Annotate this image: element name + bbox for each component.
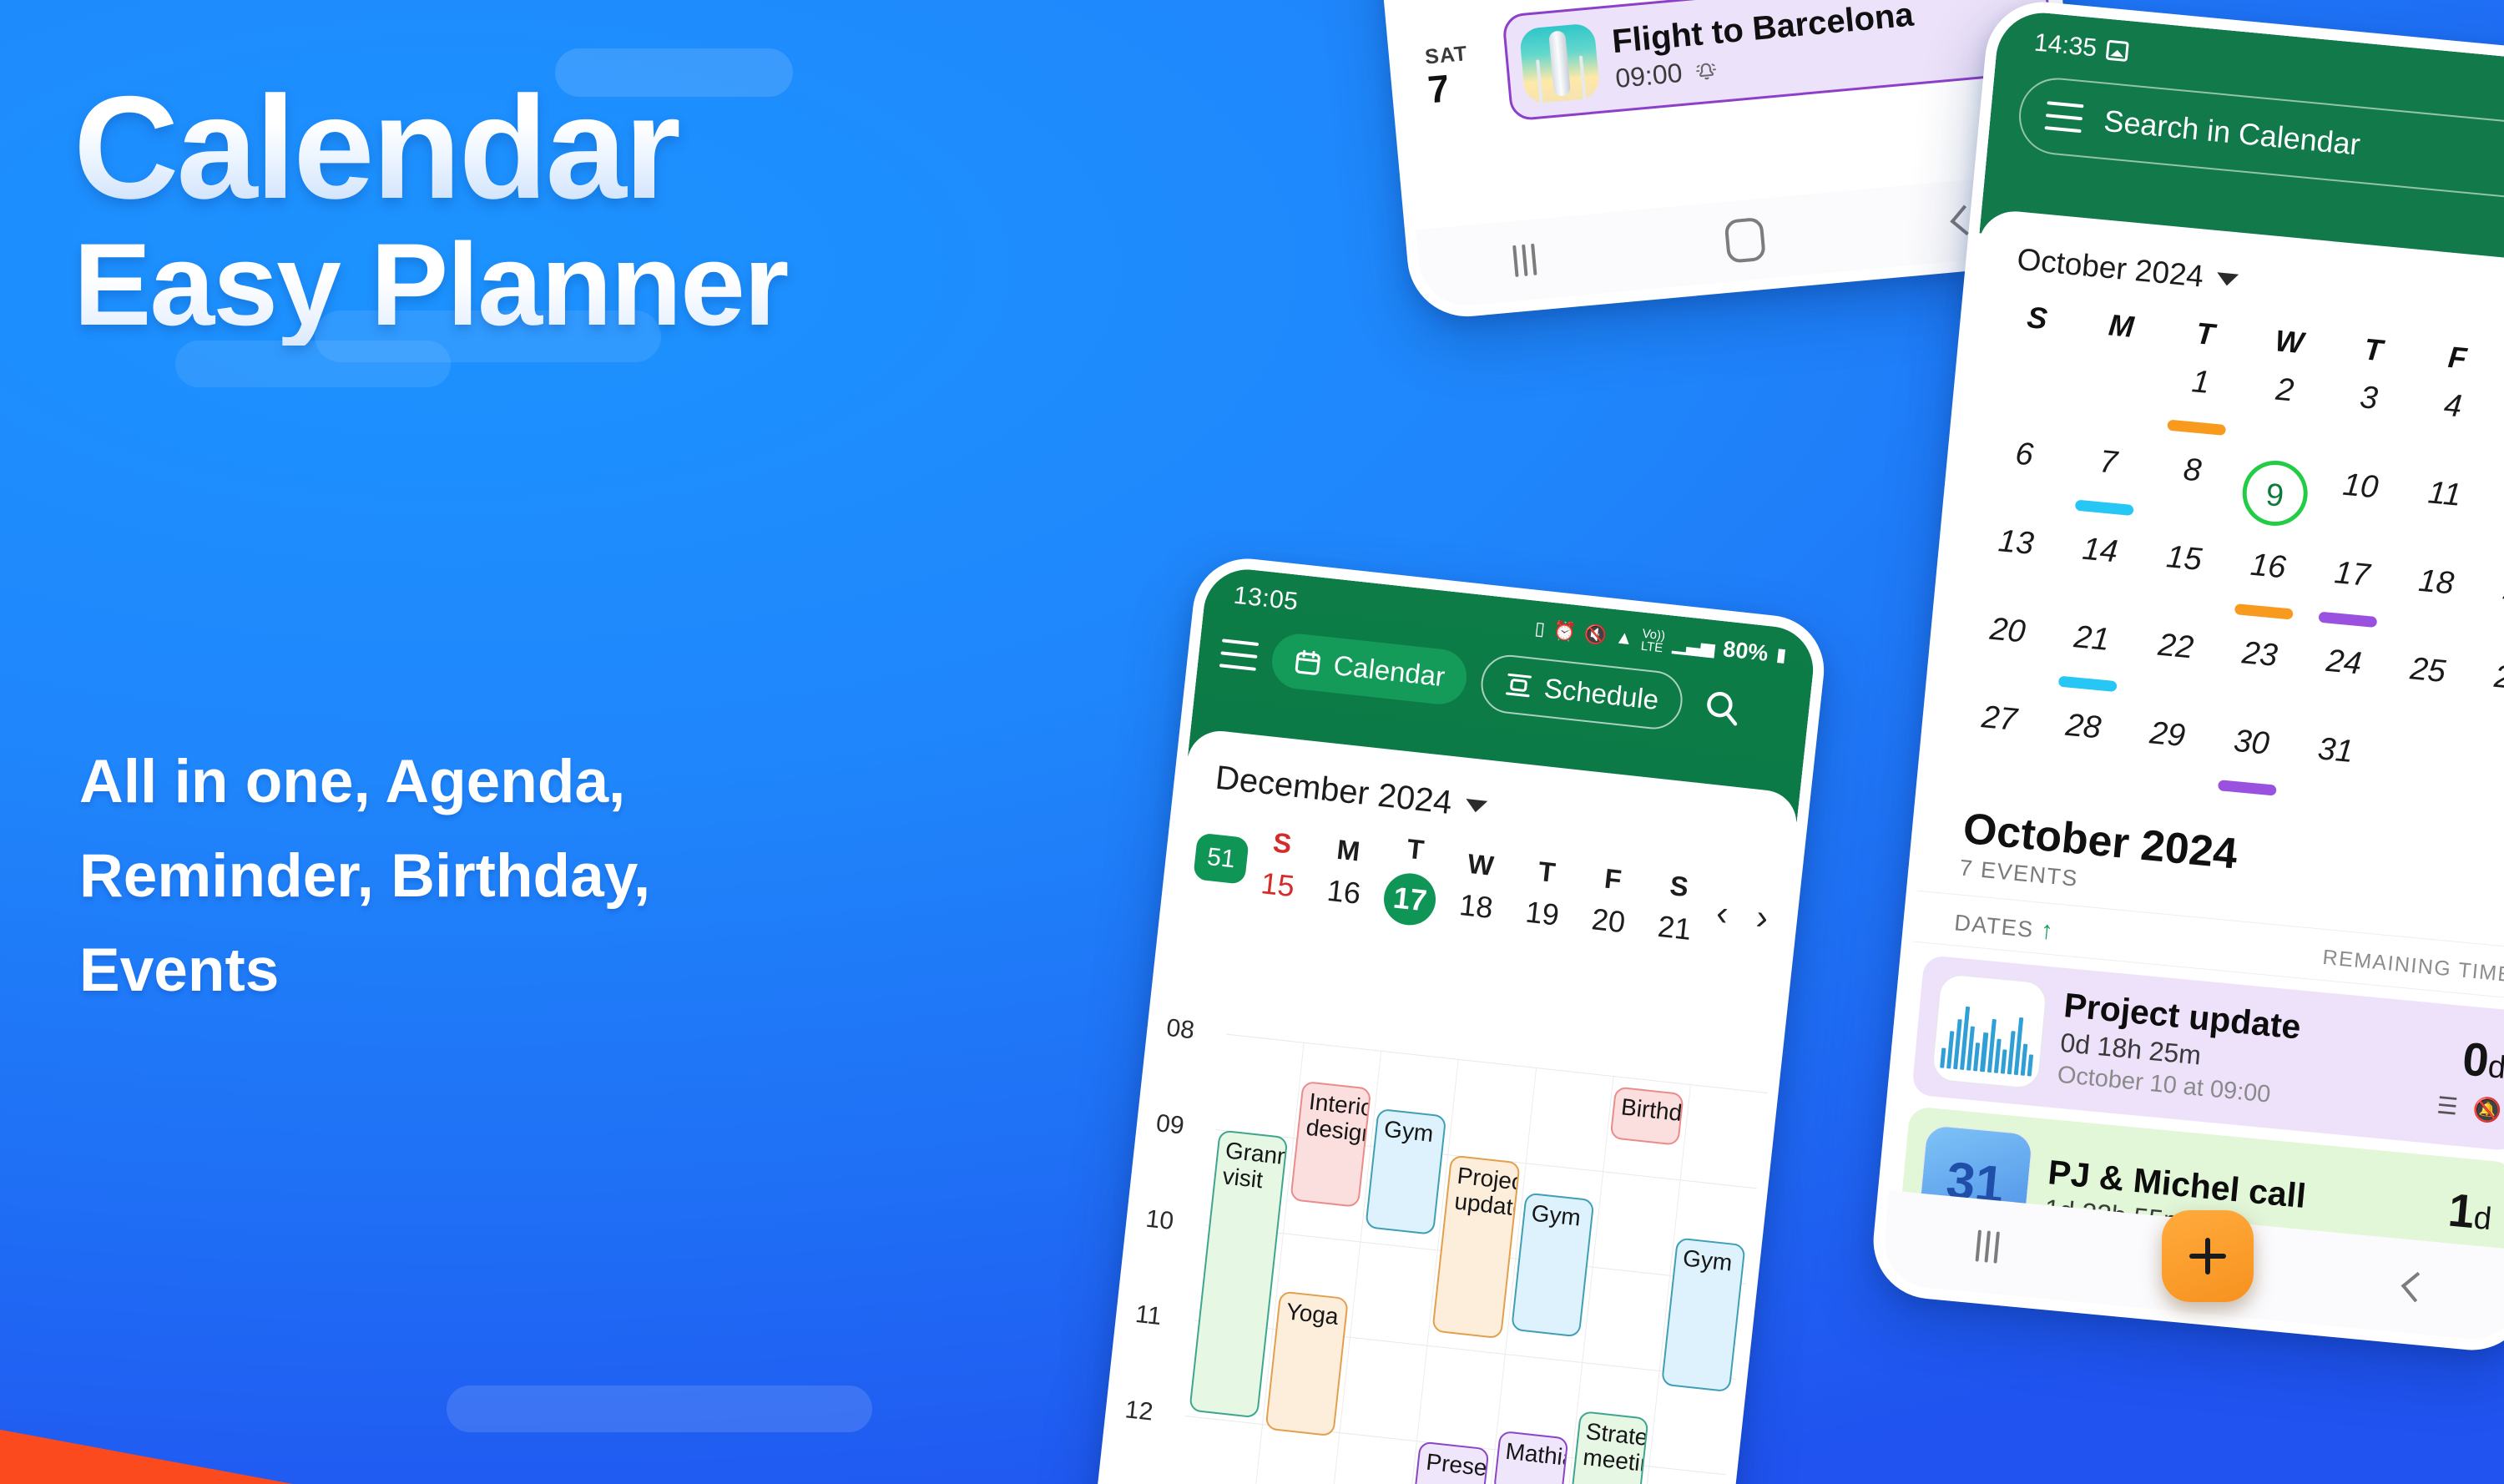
month-day-cell[interactable]: 6 (1976, 433, 2068, 524)
schedule-icon (1503, 669, 1534, 700)
month-day-number: 29 (2148, 715, 2187, 755)
month-day-cell[interactable]: 14 (2052, 529, 2143, 620)
month-event-countdown: 0d☰🔕 (2409, 1027, 2504, 1125)
month-day-number: 31 (2316, 731, 2355, 770)
volte-icon: Vo))LTE (1640, 628, 1666, 655)
month-day-number: 18 (2417, 563, 2456, 603)
hour-label: 10 (1144, 1205, 1175, 1236)
week-dow-label: T (1512, 853, 1582, 891)
week-event-grid: Granma visitInterior designYogaGymProjec… (1164, 1034, 1768, 1484)
month-day-cell[interactable]: 24 (2295, 641, 2387, 732)
bell-off-icon[interactable]: 🔕 (2471, 1095, 2503, 1125)
agenda-day: 7 (1426, 64, 1495, 110)
week-dow-label: S (1248, 824, 1317, 862)
agenda-date: SAT7 (1421, 17, 1494, 110)
add-event-fab[interactable] (2162, 1210, 2254, 1302)
airplane-photo (1519, 23, 1601, 104)
chevron-right-icon[interactable]: › (1754, 903, 1769, 932)
week-event[interactable]: Presentation (1407, 1441, 1489, 1484)
week-dow-label: S (1644, 867, 1714, 906)
remaining-time-label: REMAINING TIME (2321, 945, 2504, 987)
chevron-down-icon (1464, 799, 1487, 814)
month-day-cell[interactable]: 16 (2220, 545, 2312, 636)
hero-title-line-2: Easy Planner (73, 223, 1058, 346)
week-day-number: 18 (1441, 886, 1512, 927)
sim-icon: ▯ (1533, 618, 1546, 640)
month-event-days: 0d (2412, 1027, 2504, 1089)
week-day-cell[interactable]: S15 (1243, 824, 1317, 906)
month-day-number: 25 (2409, 651, 2447, 690)
agenda-event-time: 09:00 (1614, 57, 1684, 93)
week-event[interactable]: Strategy meeting (1568, 1411, 1649, 1484)
week-sheet: December 2024 51S15M16T17W18T19F20S21‹› … (1095, 728, 1800, 1484)
month-day-number: 8 (2182, 452, 2203, 490)
month-grid[interactable]: 1234567891011121314151617181920212223242… (1928, 330, 2504, 839)
chart-photo (1931, 973, 2047, 1089)
month-day-number: 3 (2358, 380, 2379, 417)
phone-week-mockup: 13:05 ▯ ⏰ 🔇 ▲ Vo))LTE ▁▃▅ 80% ▮ (1083, 553, 1830, 1484)
hamburger-icon[interactable] (1219, 639, 1259, 671)
month-day-marker (2234, 603, 2294, 620)
month-day-number: 19 (2501, 571, 2504, 610)
sort-by-dates[interactable]: DATES ↑ (1953, 908, 2056, 946)
week-event[interactable]: Interior design (1290, 1081, 1371, 1208)
status-time: 14:35 (2033, 29, 2098, 63)
month-day-cell[interactable]: 29 (2119, 713, 2211, 804)
hero-sub-line-1: All in one, Agenda, (79, 734, 1081, 829)
month-day-number: 27 (1980, 699, 2018, 739)
month-day-number: 17 (2333, 555, 2371, 594)
home-icon[interactable] (1724, 217, 1766, 264)
week-event[interactable]: Yoga (1265, 1290, 1350, 1436)
alarm-icon: ⏰ (1552, 619, 1577, 644)
week-event[interactable]: Gym (1511, 1192, 1595, 1338)
month-day-number: 16 (2249, 548, 2287, 587)
calendar-icon (1292, 647, 1323, 678)
week-grid[interactable]: 0809101112131415 Granma visitInterior de… (1095, 1027, 1767, 1484)
month-day-number: 13 (1997, 523, 2035, 563)
week-day-number: 16 (1309, 871, 1379, 913)
recents-icon[interactable] (1976, 1229, 2000, 1263)
week-day-cell[interactable]: S21 (1639, 867, 1714, 949)
week-nav-arrows[interactable]: ‹› (1709, 898, 1769, 932)
week-event[interactable]: Mathias (1492, 1431, 1568, 1484)
month-day-cell[interactable]: 26 (2464, 657, 2504, 748)
month-day-number: 28 (2064, 708, 2103, 747)
month-day-cell[interactable]: 4 (2405, 385, 2496, 476)
month-day-cell[interactable]: 1 (2153, 361, 2244, 452)
month-day-cell[interactable]: 17 (2304, 553, 2395, 644)
agenda-row[interactable]: SAT7Flight to Barcelona09:00 (1421, 0, 2055, 129)
list-icon[interactable]: ☰ (2436, 1092, 2459, 1121)
week-dow-label: T (1381, 830, 1450, 869)
month-event-days-unit: d (2472, 1200, 2493, 1237)
month-day-marker (2167, 420, 2226, 437)
month-day-cell[interactable]: 10 (2312, 465, 2404, 556)
battery-level: 80% (1722, 636, 1769, 667)
month-day-cell[interactable]: 3 (2320, 376, 2412, 467)
month-day-cell[interactable]: 18 (2388, 561, 2480, 652)
month-day-number: 9 (2239, 457, 2310, 528)
month-day-cell[interactable]: 22 (2128, 625, 2219, 716)
tab-schedule-label: Schedule (1542, 672, 1660, 716)
month-day-cell[interactable]: 2 (2237, 369, 2329, 460)
month-day-cell[interactable]: 28 (2035, 705, 2127, 796)
agenda-event-card[interactable]: Flight to Barcelona09:00 (1502, 0, 2055, 122)
month-day-cell[interactable]: 15 (2136, 537, 2228, 628)
month-day-cell[interactable] (2371, 737, 2463, 828)
month-event-actions[interactable]: ☰🔕 (2409, 1089, 2503, 1125)
hero-heading: Calendar Easy Planner (73, 79, 1058, 346)
chevron-down-icon (2216, 272, 2239, 286)
month-day-cell[interactable]: 8 (2144, 449, 2236, 540)
week-dow-label: M (1314, 831, 1383, 870)
month-day-marker (2057, 676, 2117, 693)
week-dow-label: W (1446, 845, 1515, 884)
month-day-cell[interactable]: 7 (2060, 441, 2152, 532)
month-day-number: 2 (2274, 372, 2295, 410)
month-day-marker (2218, 780, 2277, 796)
month-day-marker (2319, 612, 2378, 628)
month-day-cell[interactable] (2068, 353, 2160, 444)
hero-sub-line-2: Reminder, Birthday, (79, 829, 1081, 923)
month-day-cell[interactable]: 20 (1960, 609, 2052, 700)
week-number-badge: 51 (1193, 833, 1249, 885)
month-day-number: 30 (2232, 724, 2270, 763)
month-day-number: 7 (2098, 444, 2118, 482)
week-day-cell[interactable]: W18 (1441, 845, 1516, 927)
week-dow-label: F (1578, 860, 1648, 898)
month-day-cell[interactable]: 21 (2043, 617, 2135, 708)
month-day-number: 23 (2240, 635, 2279, 674)
month-day-cell[interactable]: 23 (2212, 633, 2304, 724)
arrow-up-icon: ↑ (2039, 916, 2056, 946)
week-day-number: 17 (1381, 871, 1438, 927)
month-event-body: Project update0d 18h 25mOctober 10 at 09… (2056, 987, 2400, 1119)
month-day-cell[interactable]: 25 (2380, 649, 2471, 739)
mute-icon: 🔇 (1583, 623, 1608, 647)
month-day-number: 10 (2341, 467, 2380, 507)
signal-icon: ▁▃▅ (1672, 633, 1716, 659)
week-day-cell[interactable]: M16 (1309, 831, 1383, 913)
wifi6-icon: ▲ (1614, 626, 1634, 649)
month-screen: 14:35 Search in Calendar October 2024 SM… (1881, 8, 2504, 1343)
week-event[interactable]: Birthday (1609, 1086, 1684, 1146)
month-event-days-unit: d (2486, 1049, 2504, 1086)
week-day-cell[interactable]: T17 (1374, 830, 1450, 929)
month-day-cell[interactable] (2456, 745, 2504, 836)
week-day-number: 20 (1573, 900, 1643, 941)
month-day-number: 15 (2165, 539, 2204, 578)
month-day-cell[interactable]: 9 (2229, 457, 2320, 548)
week-event[interactable]: Gym (1366, 1108, 1447, 1235)
hour-label: 08 (1165, 1014, 1196, 1045)
search-icon[interactable] (1699, 685, 1744, 729)
month-day-cell[interactable]: 27 (1951, 697, 2043, 788)
bell-icon (1693, 57, 1720, 84)
hour-label: 12 (1123, 1396, 1154, 1426)
month-day-number: 14 (2081, 532, 2119, 571)
recents-icon[interactable] (1512, 244, 1537, 277)
week-day-cell[interactable]: F20 (1573, 860, 1648, 941)
month-day-number: 1 (2190, 364, 2211, 401)
week-event[interactable]: Gym (1661, 1237, 1746, 1392)
week-day-number: 19 (1507, 892, 1578, 934)
month-day-number: 6 (2014, 437, 2035, 474)
month-day-number: 22 (2157, 628, 2195, 667)
search-input[interactable]: Search in Calendar (2103, 103, 2362, 163)
image-icon (2106, 40, 2129, 62)
month-day-cell[interactable]: 31 (2287, 729, 2379, 820)
battery-icon: ▮ (1775, 644, 1788, 666)
hamburger-icon[interactable] (2045, 101, 2084, 133)
tab-calendar-label: Calendar (1332, 649, 1446, 693)
deco-pill-4 (447, 1386, 872, 1432)
week-day-number: 21 (1639, 907, 1709, 949)
agenda-list: Design conference15:006Dinner with John2… (1373, 0, 2075, 149)
tab-calendar[interactable]: Calendar (1270, 631, 1470, 707)
month-day-number: 21 (2072, 619, 2111, 659)
week-screen: 13:05 ▯ ⏰ 🔇 ▲ Vo))LTE ▁▃▅ 80% ▮ (1095, 565, 1817, 1484)
back-icon[interactable] (2401, 1272, 2432, 1303)
tab-schedule[interactable]: Schedule (1478, 652, 1685, 732)
hero-subheading: All in one, Agenda, Reminder, Birthday, … (79, 734, 1081, 1017)
chevron-left-icon[interactable]: ‹ (1715, 899, 1730, 928)
month-event-days: 1d (2398, 1178, 2495, 1240)
sort-label: DATES (1953, 910, 2035, 943)
week-day-number: 15 (1243, 864, 1313, 906)
hero-title-line-1: Calendar (73, 79, 1058, 218)
hour-label: 09 (1154, 1109, 1185, 1140)
month-day-number: 26 (2492, 659, 2504, 699)
month-day-number: 4 (2442, 388, 2463, 426)
month-sheet: October 2024 SMTWTFS 1234567891011121314… (1881, 208, 2504, 1343)
month-day-cell[interactable]: 11 (2396, 472, 2488, 563)
hour-label: 11 (1134, 1300, 1164, 1331)
month-day-marker (2074, 500, 2133, 517)
agenda-event-body: Flight to Barcelona09:00 (1611, 0, 2033, 94)
month-day-number: 20 (1988, 612, 2027, 651)
month-day-cell[interactable]: 30 (2204, 721, 2295, 812)
month-day-cell[interactable] (1985, 345, 2077, 436)
month-day-number: 11 (2426, 475, 2462, 514)
hero-sub-line-3: Events (79, 923, 1081, 1017)
month-day-number: 24 (2325, 644, 2363, 683)
month-day-cell[interactable]: 13 (1968, 521, 2060, 612)
week-day-cell[interactable]: T19 (1507, 853, 1582, 935)
